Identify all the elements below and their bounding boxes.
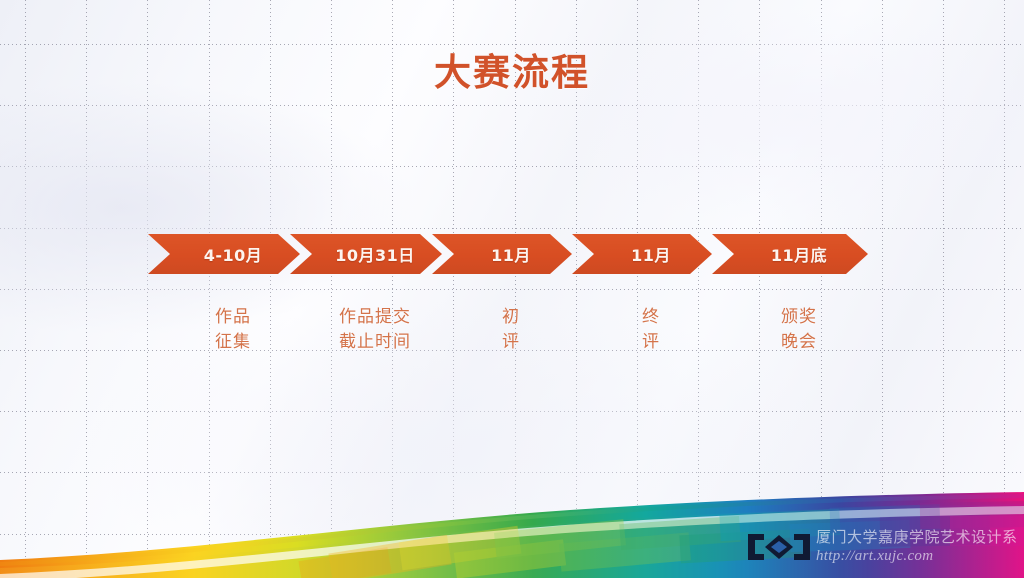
process-captions: 作品征集作品提交截止时间初评终评颁奖晚会 bbox=[148, 305, 868, 385]
watermark-organization: 厦门大学嘉庚学院艺术设计系 bbox=[816, 528, 1024, 547]
timeline-chevron-date: 11月 bbox=[491, 242, 531, 266]
timeline-chevron: 11月底 bbox=[712, 234, 868, 274]
timeline-chevron-date: 11月底 bbox=[771, 242, 827, 266]
grid-line-horizontal bbox=[0, 411, 1024, 412]
timeline-stage-caption: 作品征集 bbox=[166, 305, 300, 355]
timeline-stage-caption: 初评 bbox=[450, 305, 572, 355]
grid-line-horizontal bbox=[0, 534, 1024, 535]
timeline-chevron-date: 4-10月 bbox=[204, 242, 263, 266]
grid-line-horizontal bbox=[0, 105, 1024, 106]
caption-line-1: 颁奖 bbox=[730, 305, 868, 330]
grid-line-horizontal bbox=[0, 472, 1024, 473]
process-timeline: 4-10月10月31日11月11月11月底 bbox=[148, 234, 868, 274]
timeline-stage-caption: 终评 bbox=[590, 305, 712, 355]
timeline-stage-caption: 作品提交截止时间 bbox=[308, 305, 442, 355]
grid-line-horizontal bbox=[0, 228, 1024, 229]
grid-line-horizontal bbox=[0, 289, 1024, 290]
caption-line-2: 晚会 bbox=[730, 330, 868, 355]
caption-line-2: 评 bbox=[590, 330, 712, 355]
caption-line-1: 初 bbox=[450, 305, 572, 330]
caption-line-1: 作品 bbox=[166, 305, 300, 330]
caption-line-1: 作品提交 bbox=[308, 305, 442, 330]
timeline-chevron-date: 11月 bbox=[631, 242, 671, 266]
presentation-slide: 大赛流程 4-10月10月31日11月11月11月底 作品征集作品提交截止时间初… bbox=[0, 0, 1024, 578]
caption-line-1: 终 bbox=[590, 305, 712, 330]
timeline-chevron: 4-10月 bbox=[148, 234, 300, 274]
caption-line-2: 截止时间 bbox=[308, 330, 442, 355]
timeline-chevron-date: 10月31日 bbox=[335, 242, 415, 266]
timeline-chevron: 11月 bbox=[572, 234, 712, 274]
rainbow-wave-decoration bbox=[0, 482, 1024, 578]
grid-line-horizontal bbox=[0, 166, 1024, 167]
watermark-url: http://art.xujc.com bbox=[816, 547, 1024, 566]
timeline-chevron: 11月 bbox=[432, 234, 572, 274]
page-title: 大赛流程 bbox=[0, 42, 1024, 96]
caption-line-2: 评 bbox=[450, 330, 572, 355]
xujc-art-logo-icon bbox=[748, 532, 810, 562]
watermark: 厦门大学嘉庚学院艺术设计系 http://art.xujc.com bbox=[748, 526, 1024, 572]
timeline-stage-caption: 颁奖晚会 bbox=[730, 305, 868, 355]
caption-line-2: 征集 bbox=[166, 330, 300, 355]
timeline-chevron: 10月31日 bbox=[290, 234, 442, 274]
